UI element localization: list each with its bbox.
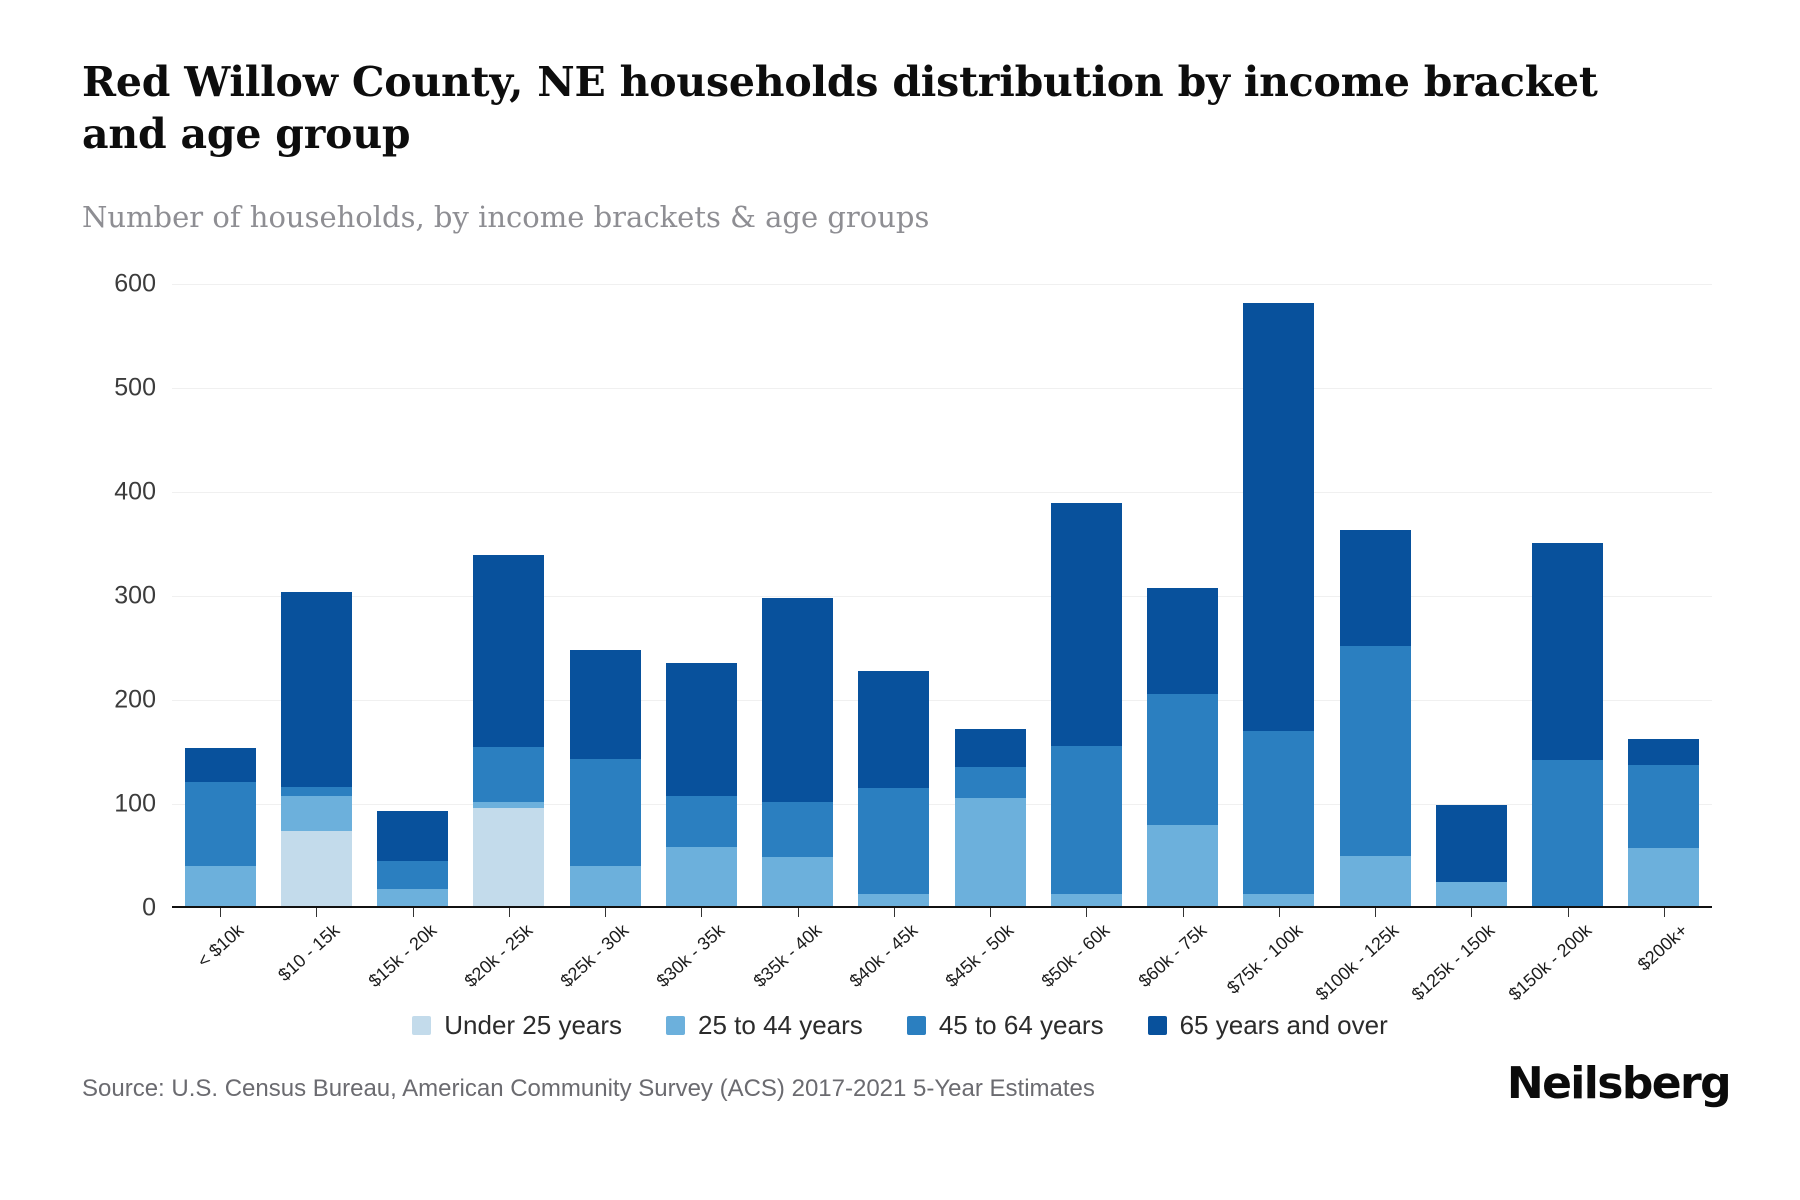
x-axis-tick [1375, 908, 1376, 917]
bar-segment[interactable] [377, 861, 448, 889]
bar-stack[interactable] [1436, 805, 1507, 908]
bar-segment[interactable] [1628, 739, 1699, 765]
bar-stack[interactable] [762, 598, 833, 908]
x-axis-tick-label: $10 - 15k [275, 920, 345, 986]
bar-segment[interactable] [1243, 731, 1314, 894]
x-axis-tick-label: $100k - 125k [1312, 920, 1403, 1005]
legend-label: 65 years and over [1180, 1010, 1388, 1041]
y-axis-tick-label: 500 [36, 374, 156, 403]
x-axis-tick [1183, 908, 1184, 917]
x-axis-tick [1568, 908, 1569, 917]
bar-segment[interactable] [473, 747, 544, 802]
bar-stack[interactable] [570, 650, 641, 908]
bar-segment[interactable] [858, 788, 929, 894]
x-axis-tick [701, 908, 702, 917]
x-axis-tick [894, 908, 895, 917]
x-axis-tick-label: $125k - 150k [1408, 920, 1499, 1005]
x-axis-tick-label: < $10k [194, 920, 249, 972]
bar-stack[interactable] [1147, 588, 1218, 908]
bar-stack[interactable] [377, 811, 448, 908]
bar-stack[interactable] [1628, 739, 1699, 909]
bar-stack[interactable] [281, 592, 352, 908]
bar-segment[interactable] [281, 787, 352, 795]
bar-series-container [172, 284, 1712, 908]
brand-logo: Neilsberg [1507, 1058, 1730, 1109]
y-axis-tick-label: 600 [36, 270, 156, 299]
bar-segment[interactable] [1340, 646, 1411, 856]
y-axis-tick-label: 200 [36, 686, 156, 715]
x-axis-tick-label: $45k - 50k [942, 920, 1019, 992]
legend-item[interactable]: 25 to 44 years [666, 1010, 863, 1041]
bar-segment[interactable] [281, 796, 352, 831]
x-axis-tick-label: $15k - 20k [364, 920, 441, 992]
x-axis-tick-label: $150k - 200k [1504, 920, 1595, 1005]
bar-segment[interactable] [1628, 765, 1699, 848]
x-axis-tick [220, 908, 221, 917]
x-axis-line [172, 906, 1712, 908]
bar-segment[interactable] [1147, 694, 1218, 825]
bar-stack[interactable] [955, 729, 1026, 908]
y-axis-tick-label: 0 [36, 894, 156, 923]
bar-segment[interactable] [377, 811, 448, 861]
x-axis-tick-label: $35k - 40k [749, 920, 826, 992]
x-axis-tick [1471, 908, 1472, 917]
bar-segment[interactable] [570, 650, 641, 759]
x-axis-tick-label: $20k - 25k [460, 920, 537, 992]
bar-stack[interactable] [666, 663, 737, 908]
bar-segment[interactable] [1051, 746, 1122, 895]
page-title: Red Willow County, NE households distrib… [82, 56, 1692, 161]
x-axis-tick [316, 908, 317, 917]
x-axis-tick [798, 908, 799, 917]
bar-segment[interactable] [570, 866, 641, 908]
bar-segment[interactable] [185, 782, 256, 866]
legend-swatch-icon [907, 1016, 926, 1035]
bar-segment[interactable] [955, 767, 1026, 798]
legend-item[interactable]: Under 25 years [412, 1010, 622, 1041]
legend-swatch-icon [666, 1016, 685, 1035]
y-axis-tick-label: 100 [36, 790, 156, 819]
bar-stack[interactable] [473, 555, 544, 908]
x-axis-tick [509, 908, 510, 917]
bar-segment[interactable] [762, 857, 833, 908]
bar-stack[interactable] [1532, 543, 1603, 908]
bar-stack[interactable] [858, 671, 929, 908]
x-axis-tick-label: $50k - 60k [1038, 920, 1115, 992]
x-axis-tick-label: $30k - 35k [653, 920, 730, 992]
bar-segment[interactable] [955, 729, 1026, 766]
x-axis-tick-label: $60k - 75k [1134, 920, 1211, 992]
bar-stack[interactable] [1340, 530, 1411, 908]
bar-segment[interactable] [1628, 848, 1699, 908]
x-axis-tick [413, 908, 414, 917]
bar-segment[interactable] [1340, 530, 1411, 645]
chart-legend: Under 25 years25 to 44 years45 to 64 yea… [0, 1010, 1800, 1041]
legend-swatch-icon [412, 1016, 431, 1035]
bar-segment[interactable] [666, 847, 737, 908]
bar-stack[interactable] [1051, 503, 1122, 908]
legend-item[interactable]: 65 years and over [1148, 1010, 1388, 1041]
bar-segment[interactable] [666, 663, 737, 796]
bar-segment[interactable] [762, 598, 833, 802]
legend-item[interactable]: 45 to 64 years [907, 1010, 1104, 1041]
bar-segment[interactable] [1532, 760, 1603, 908]
source-note: Source: U.S. Census Bureau, American Com… [82, 1075, 1095, 1103]
bar-segment[interactable] [1340, 856, 1411, 908]
bar-segment[interactable] [1147, 825, 1218, 908]
x-axis-tick [605, 908, 606, 917]
bar-segment[interactable] [1532, 543, 1603, 760]
bar-segment[interactable] [1051, 503, 1122, 745]
bar-segment[interactable] [858, 671, 929, 789]
x-axis-tick-label: $40k - 45k [845, 920, 922, 992]
bar-segment[interactable] [955, 798, 1026, 908]
x-axis-tick [1086, 908, 1087, 917]
bar-stack[interactable] [1243, 303, 1314, 908]
x-axis-tick-label: $75k - 100k [1223, 920, 1307, 999]
x-axis-tick-label: $25k - 30k [557, 920, 634, 992]
bar-segment[interactable] [185, 866, 256, 908]
bar-segment[interactable] [281, 831, 352, 908]
chart-page: Red Willow County, NE households distrib… [0, 0, 1800, 1200]
bar-segment[interactable] [570, 759, 641, 866]
bar-segment[interactable] [281, 592, 352, 788]
bar-stack[interactable] [185, 748, 256, 908]
y-axis-tick-label: 400 [36, 478, 156, 507]
bar-segment[interactable] [762, 802, 833, 857]
x-axis-tick [1664, 908, 1665, 917]
bar-segment[interactable] [1436, 882, 1507, 908]
x-axis-tick [1279, 908, 1280, 917]
page-subtitle: Number of households, by income brackets… [82, 200, 929, 234]
bar-segment[interactable] [1243, 303, 1314, 731]
x-axis-tick-label: $200k+ [1634, 920, 1692, 975]
bar-segment[interactable] [1436, 805, 1507, 882]
legend-label: Under 25 years [444, 1010, 622, 1041]
bar-segment[interactable] [473, 555, 544, 746]
bar-segment[interactable] [1147, 588, 1218, 694]
bar-segment[interactable] [666, 796, 737, 847]
legend-swatch-icon [1148, 1016, 1167, 1035]
bar-segment[interactable] [185, 748, 256, 782]
legend-label: 45 to 64 years [939, 1010, 1104, 1041]
legend-label: 25 to 44 years [698, 1010, 863, 1041]
y-axis-tick-label: 300 [36, 582, 156, 611]
bar-segment[interactable] [473, 808, 544, 908]
plot-area: 0100200300400500600 < $10k$10 - 15k$15k … [172, 284, 1712, 908]
x-axis-tick [990, 908, 991, 917]
